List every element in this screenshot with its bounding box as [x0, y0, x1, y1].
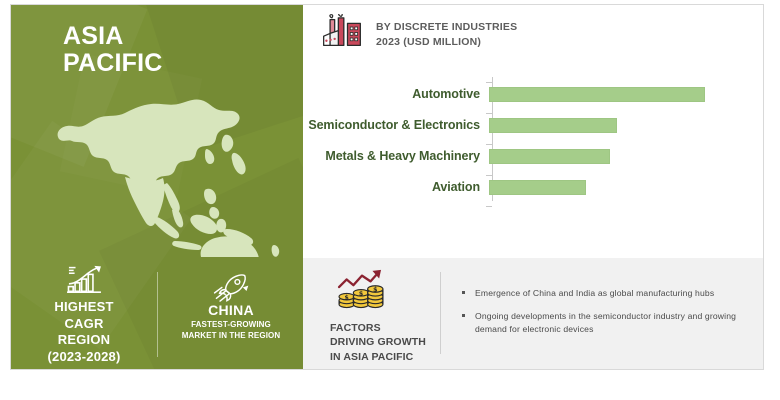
axis-tick	[486, 206, 492, 207]
badge-cagr-title: HIGHEST CAGR REGION (2023-2028)	[47, 299, 120, 366]
bar-track	[489, 81, 762, 107]
factors-block: $ $ $	[330, 268, 450, 364]
region-title-line2: PACIFIC	[63, 50, 163, 77]
asia-pacific-map-icon	[29, 77, 289, 257]
badge-cagr-line4: (2023-2028)	[47, 349, 120, 366]
factors-title: FACTORS DRIVING GROWTH IN ASIA PACIFIC	[330, 321, 450, 364]
region-title: ASIA PACIFIC	[63, 23, 163, 76]
factor-bullet: Emergence of China and India as global m…	[462, 287, 752, 300]
factors-line1: FACTORS	[330, 321, 450, 335]
svg-text:$: $	[359, 290, 363, 297]
bar	[489, 149, 610, 164]
bar-category-label: Automotive	[304, 87, 489, 101]
bar	[489, 87, 705, 102]
svg-text:$: $	[373, 287, 377, 294]
growth-bar-chart-icon	[63, 262, 105, 296]
factors-divider	[440, 272, 441, 354]
chart-bar-row: Metals & Heavy Machinery	[304, 143, 762, 169]
bar-category-label: Metals & Heavy Machinery	[304, 149, 489, 163]
region-title-line1: ASIA	[63, 23, 163, 50]
bar-track	[489, 174, 762, 200]
infographic-root: ASIA PACIFIC	[0, 0, 780, 400]
badge-cagr-line1: HIGHEST	[47, 299, 120, 316]
chart-bar-row: Aviation	[304, 174, 762, 200]
bar	[489, 180, 586, 195]
factors-bullet-list: Emergence of China and India as global m…	[462, 287, 752, 346]
badge-cagr-line2: CAGR	[47, 316, 120, 333]
coins-growth-icon: $ $ $	[334, 268, 450, 315]
svg-text:$: $	[345, 294, 349, 301]
chart-bar-row: Semiconductor & Electronics	[304, 112, 762, 138]
badge-china-subtitle: FASTEST-GROWING MARKET IN THE REGION	[182, 320, 280, 342]
bar-category-label: Semiconductor & Electronics	[304, 118, 489, 132]
chart-bar-row: Automotive	[304, 81, 762, 107]
badge-china-sub-line2: MARKET IN THE REGION	[182, 331, 280, 342]
bar	[489, 118, 617, 133]
factors-line3: IN ASIA PACIFIC	[330, 350, 450, 364]
chart-header: BY DISCRETE INDUSTRIES 2023 (USD MILLION…	[320, 14, 517, 56]
badge-china: CHINA FASTEST-GROWING MARKET IN THE REGI…	[159, 258, 303, 369]
factors-line2: DRIVING GROWTH	[330, 335, 450, 349]
badge-china-sub-line1: FASTEST-GROWING	[182, 320, 280, 331]
badge-china-title: CHINA	[208, 302, 254, 318]
bar-track	[489, 112, 762, 138]
badge-strip: HIGHEST CAGR REGION (2023-2028)	[11, 258, 303, 369]
rocket-icon	[211, 268, 251, 302]
badge-cagr-line3: REGION	[47, 332, 120, 349]
badge-divider	[157, 272, 158, 357]
bar-category-label: Aviation	[304, 180, 489, 194]
factor-bullet: Ongoing developments in the semiconducto…	[462, 310, 752, 336]
bar-track	[489, 143, 762, 169]
chart-header-line1: BY DISCRETE INDUSTRIES	[376, 20, 517, 35]
factory-icon	[320, 14, 364, 56]
chart-header-line2: 2023 (USD MILLION)	[376, 35, 517, 50]
discrete-industries-bar-chart: AutomotiveSemiconductor & ElectronicsMet…	[304, 75, 762, 205]
badge-highest-cagr: HIGHEST CAGR REGION (2023-2028)	[11, 258, 157, 369]
chart-header-title: BY DISCRETE INDUSTRIES 2023 (USD MILLION…	[376, 20, 517, 50]
